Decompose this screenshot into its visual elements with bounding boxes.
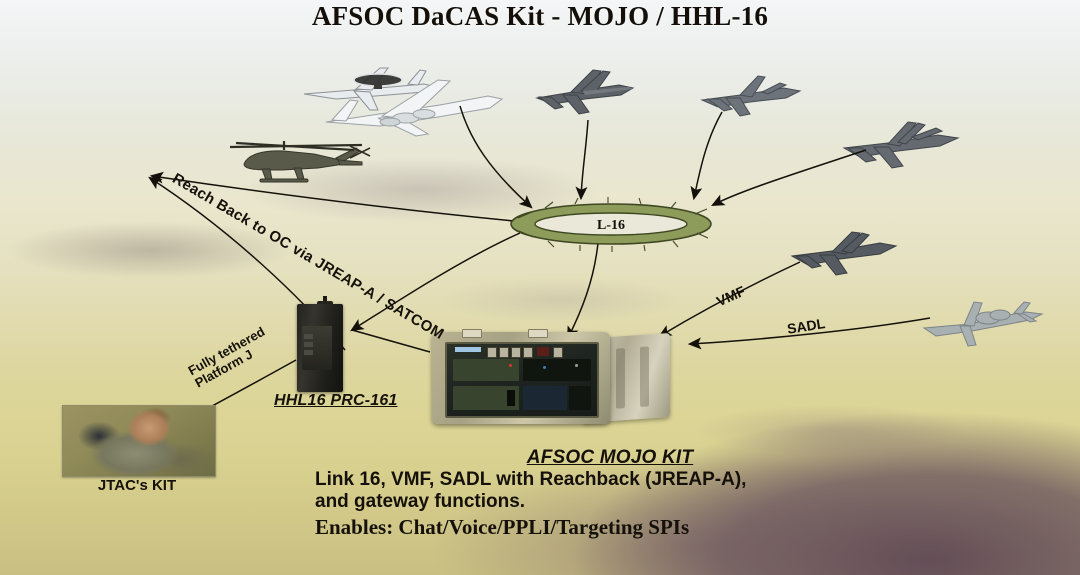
panel-label	[455, 347, 481, 352]
mojo-kit-description: AFSOC MOJO KIT Link 16, VMF, SADL with R…	[300, 447, 920, 540]
link-tanker-to-hub	[460, 106, 531, 207]
jtac-kit-caption: JTAC's KIT	[52, 477, 222, 494]
link-hub-to-radio	[352, 233, 520, 330]
radio-control-3	[304, 350, 313, 355]
radio-faceplate	[302, 326, 332, 370]
mojo-kit-line2: and gateway functions.	[315, 491, 920, 513]
slide-canvas: AFSOC DaCAS Kit - MOJO / HHL-16	[0, 0, 1080, 575]
link-fa18-to-hub	[713, 150, 866, 205]
link-hub-to-mojo	[568, 243, 598, 338]
prc-161-caption: HHL16 PRC-161	[274, 392, 398, 410]
case-latch-right	[528, 329, 548, 338]
link-f15-to-hub	[581, 120, 588, 198]
mojo-kit-line1: Link 16, VMF, SADL with Reachback (JREAP…	[315, 469, 920, 491]
radio-body	[297, 304, 343, 392]
mojo-kit-case	[432, 332, 672, 426]
radio-control-1	[304, 334, 313, 339]
link-radio-to-mojo	[352, 330, 430, 352]
link-f16-to-hub	[694, 112, 722, 198]
prc-161-radio	[297, 296, 347, 392]
case-shell	[432, 332, 610, 424]
mojo-kit-line3: Enables: Chat/Voice/PPLI/Targeting SPIs	[315, 515, 920, 540]
case-latch-left	[462, 329, 482, 338]
mojo-kit-heading: AFSOC MOJO KIT	[300, 447, 920, 469]
jtac-kit-photo	[62, 405, 216, 477]
radio-control-2	[304, 342, 313, 347]
hub-label: L-16	[597, 218, 625, 233]
equipment-panel	[445, 342, 599, 418]
